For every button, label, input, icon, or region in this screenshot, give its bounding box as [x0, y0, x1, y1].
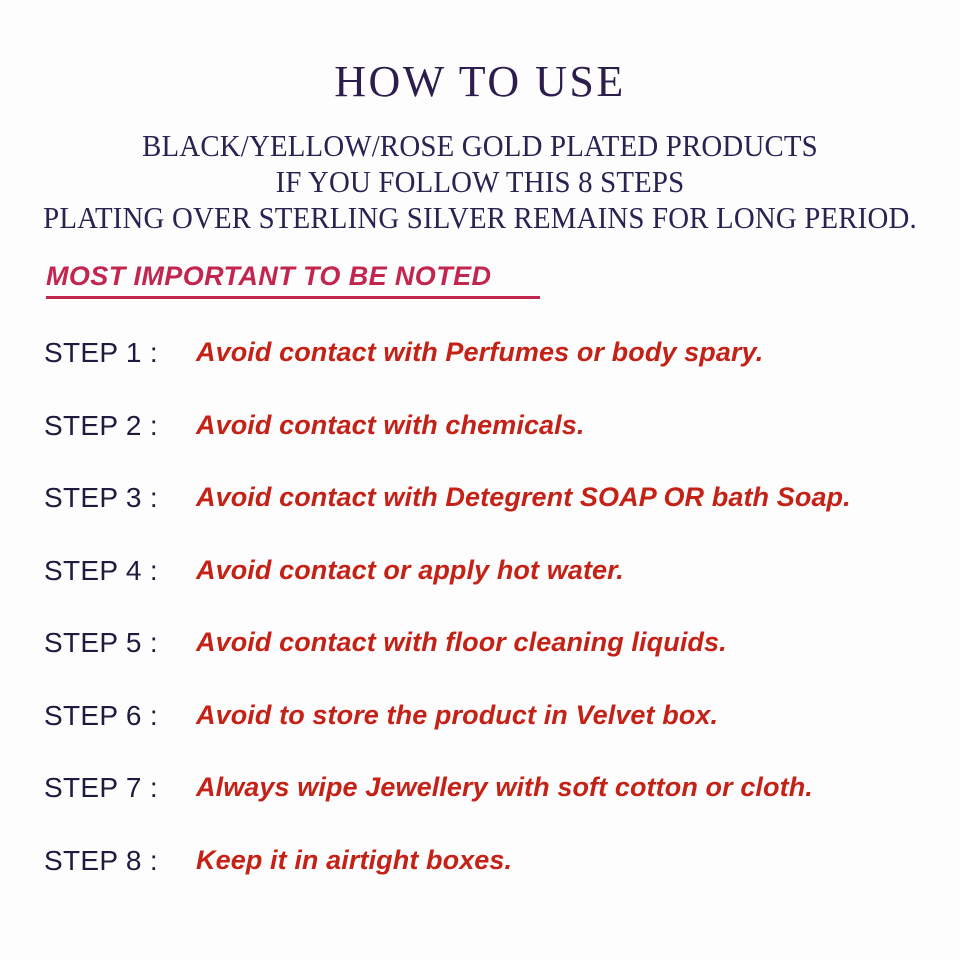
header-block: HOW TO USE BLACK/YELLOW/ROSE GOLD PLATED…	[0, 60, 960, 236]
step-row: STEP 4 : Avoid contact or apply hot wate…	[44, 557, 944, 630]
step-text: Avoid contact with floor cleaning liquid…	[196, 629, 727, 656]
step-label: STEP 4 :	[44, 557, 196, 585]
step-label: STEP 7 :	[44, 774, 196, 802]
step-label: STEP 2 :	[44, 412, 196, 440]
step-text: Always wipe Jewellery with soft cotton o…	[196, 774, 813, 801]
page-title: HOW TO USE	[0, 60, 960, 104]
subtitle-line-3: PLATING OVER STERLING SILVER REMAINS FOR…	[34, 200, 927, 236]
step-label: STEP 1 :	[44, 339, 196, 367]
step-row: STEP 3 : Avoid contact with Detegrent SO…	[44, 484, 944, 557]
step-label: STEP 8 :	[44, 847, 196, 875]
step-text: Avoid contact or apply hot water.	[196, 557, 624, 584]
step-row: STEP 2 : Avoid contact with chemicals.	[44, 412, 944, 485]
step-label: STEP 6 :	[44, 702, 196, 730]
step-text: Avoid to store the product in Velvet box…	[196, 702, 718, 729]
steps-list: STEP 1 : Avoid contact with Perfumes or …	[44, 339, 944, 919]
subtitle-line-2: IF YOU FOLLOW THIS 8 STEPS	[34, 164, 927, 200]
care-instructions-page: HOW TO USE BLACK/YELLOW/ROSE GOLD PLATED…	[0, 0, 960, 960]
step-label: STEP 5 :	[44, 629, 196, 657]
step-label: STEP 3 :	[44, 484, 196, 512]
step-row: STEP 1 : Avoid contact with Perfumes or …	[44, 339, 944, 412]
step-row: STEP 6 : Avoid to store the product in V…	[44, 702, 944, 775]
step-text: Avoid contact with chemicals.	[196, 412, 585, 439]
notice-underline	[46, 296, 540, 299]
important-notice: MOST IMPORTANT TO BE NOTED	[46, 263, 540, 299]
step-text: Avoid contact with Perfumes or body spar…	[196, 339, 763, 366]
subtitle-line-1: BLACK/YELLOW/ROSE GOLD PLATED PRODUCTS	[34, 128, 927, 164]
step-row: STEP 8 : Keep it in airtight boxes.	[44, 847, 944, 920]
step-text: Avoid contact with Detegrent SOAP OR bat…	[196, 484, 851, 511]
step-row: STEP 7 : Always wipe Jewellery with soft…	[44, 774, 944, 847]
step-row: STEP 5 : Avoid contact with floor cleani…	[44, 629, 944, 702]
step-text: Keep it in airtight boxes.	[196, 847, 512, 874]
important-notice-heading: MOST IMPORTANT TO BE NOTED	[46, 263, 491, 290]
subtitle-block: BLACK/YELLOW/ROSE GOLD PLATED PRODUCTS I…	[0, 128, 960, 236]
